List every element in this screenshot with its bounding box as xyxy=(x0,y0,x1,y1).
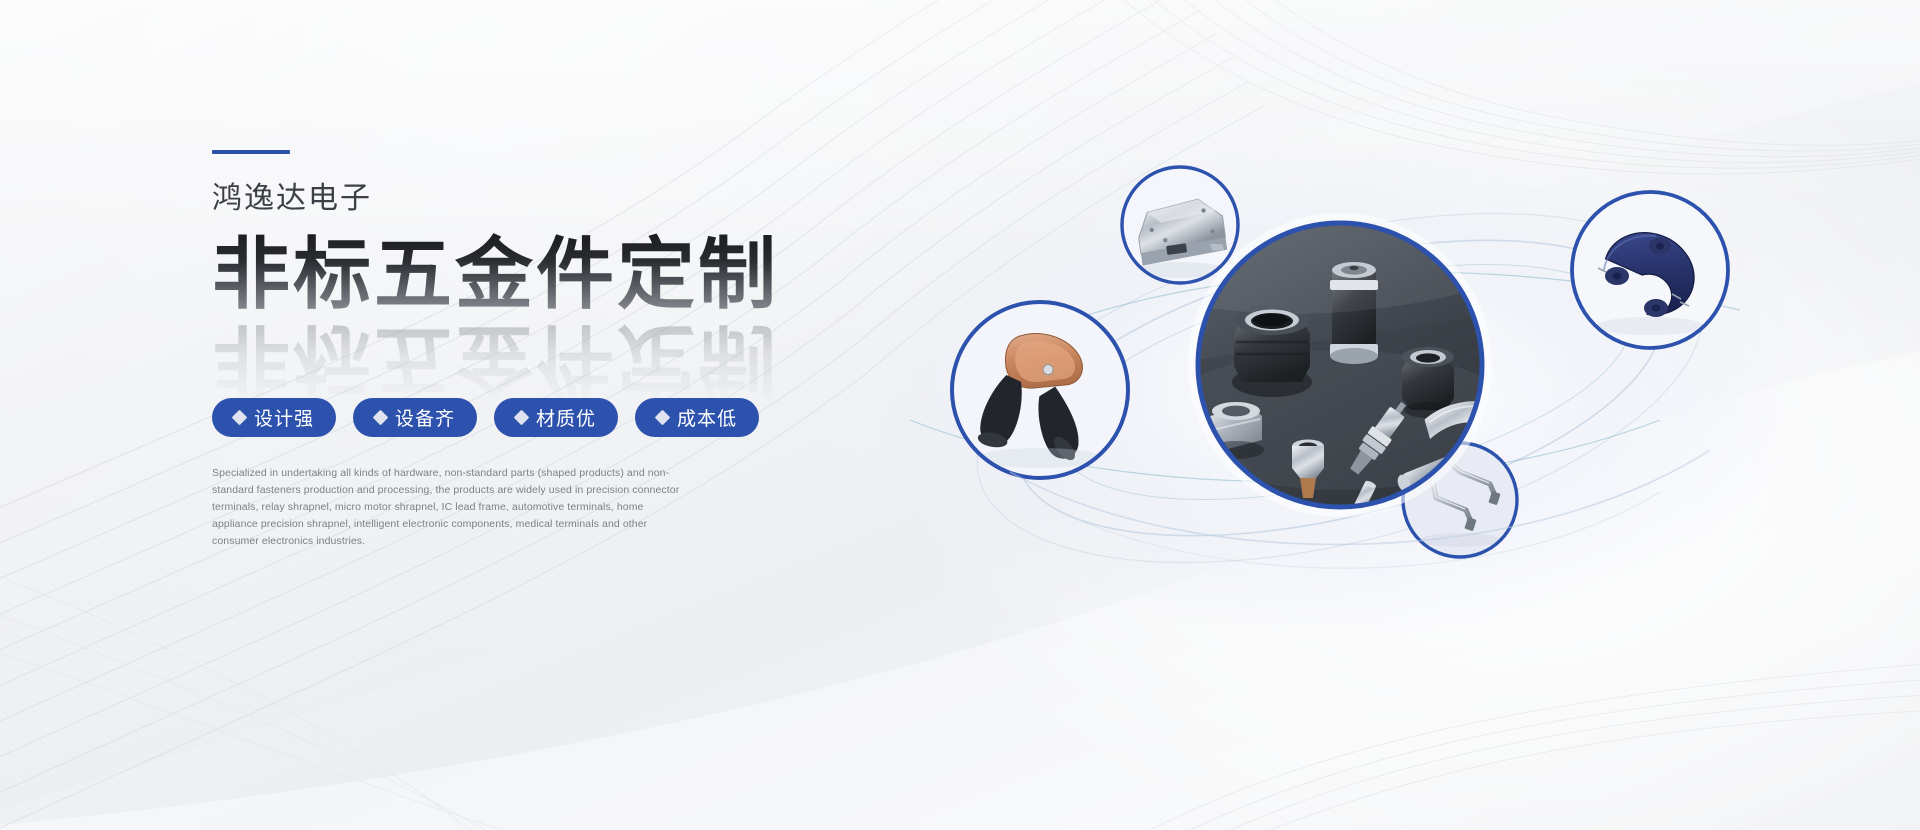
feature-badge-material[interactable]: 材质优 xyxy=(494,398,618,437)
feature-badge-label: 成本低 xyxy=(677,404,737,431)
product-showcase xyxy=(760,120,1920,680)
feature-badge-label: 材质优 xyxy=(536,404,596,431)
company-description: Specialized in undertaking all kinds of … xyxy=(212,465,682,550)
copper-battery-clamp-thumb xyxy=(952,302,1128,478)
diamond-icon xyxy=(232,410,248,426)
feature-badge-cost[interactable]: 成本低 xyxy=(635,398,759,437)
feature-badge-label: 设备齐 xyxy=(395,404,455,431)
metal-shield-enclosure-thumb xyxy=(1122,167,1238,283)
accent-rule xyxy=(212,150,290,154)
hero-banner: 鸿逸达电子 非标五金件定制 非标五金件定制 设计强 设备齐 材质优 成本低 xyxy=(0,0,1920,830)
headline-reflection: 非标五金件定制 xyxy=(212,318,779,402)
feature-badge-equipment[interactable]: 设备齐 xyxy=(353,398,477,437)
diamond-icon xyxy=(514,410,530,426)
diamond-icon xyxy=(655,410,671,426)
feature-badge-label: 设计强 xyxy=(254,404,314,431)
feature-badge-design[interactable]: 设计强 xyxy=(212,398,336,437)
diamond-icon xyxy=(373,410,389,426)
blue-retaining-ring-thumb xyxy=(1572,192,1728,348)
